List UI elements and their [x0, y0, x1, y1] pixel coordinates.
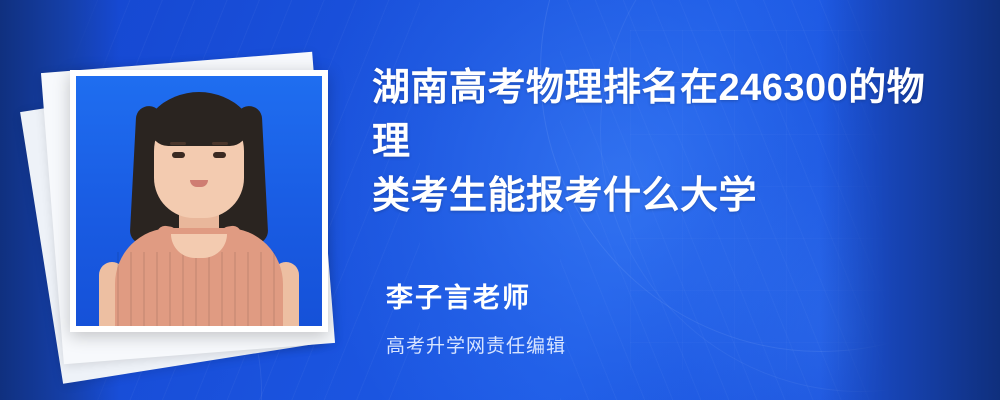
portrait-fringe	[150, 98, 248, 146]
author-subtitle: 高考升学网责任编辑	[372, 331, 960, 358]
headline-line-2: 类考生能报考什么大学	[372, 170, 960, 224]
portrait-eyebrow-right	[212, 142, 228, 145]
article-cover-banner: 湖南高考物理排名在246300的物理 类考生能报考什么大学 李子言老师 高考升学…	[0, 0, 1000, 400]
photo-card-front	[70, 70, 328, 332]
author-portrait-photo	[76, 76, 322, 326]
text-column: 湖南高考物理排名在246300的物理 类考生能报考什么大学 李子言老师 高考升学…	[372, 62, 960, 358]
portrait-dress-texture	[117, 252, 281, 326]
portrait-eye-right	[213, 152, 226, 158]
headline: 湖南高考物理排名在246300的物理 类考生能报考什么大学	[372, 62, 960, 224]
portrait-eyebrow-left	[170, 142, 186, 145]
author-name: 李子言老师	[372, 276, 960, 315]
portrait-eye-left	[172, 152, 185, 158]
headline-line-1: 湖南高考物理排名在246300的物理	[372, 62, 960, 170]
photo-card-stack	[40, 28, 360, 373]
